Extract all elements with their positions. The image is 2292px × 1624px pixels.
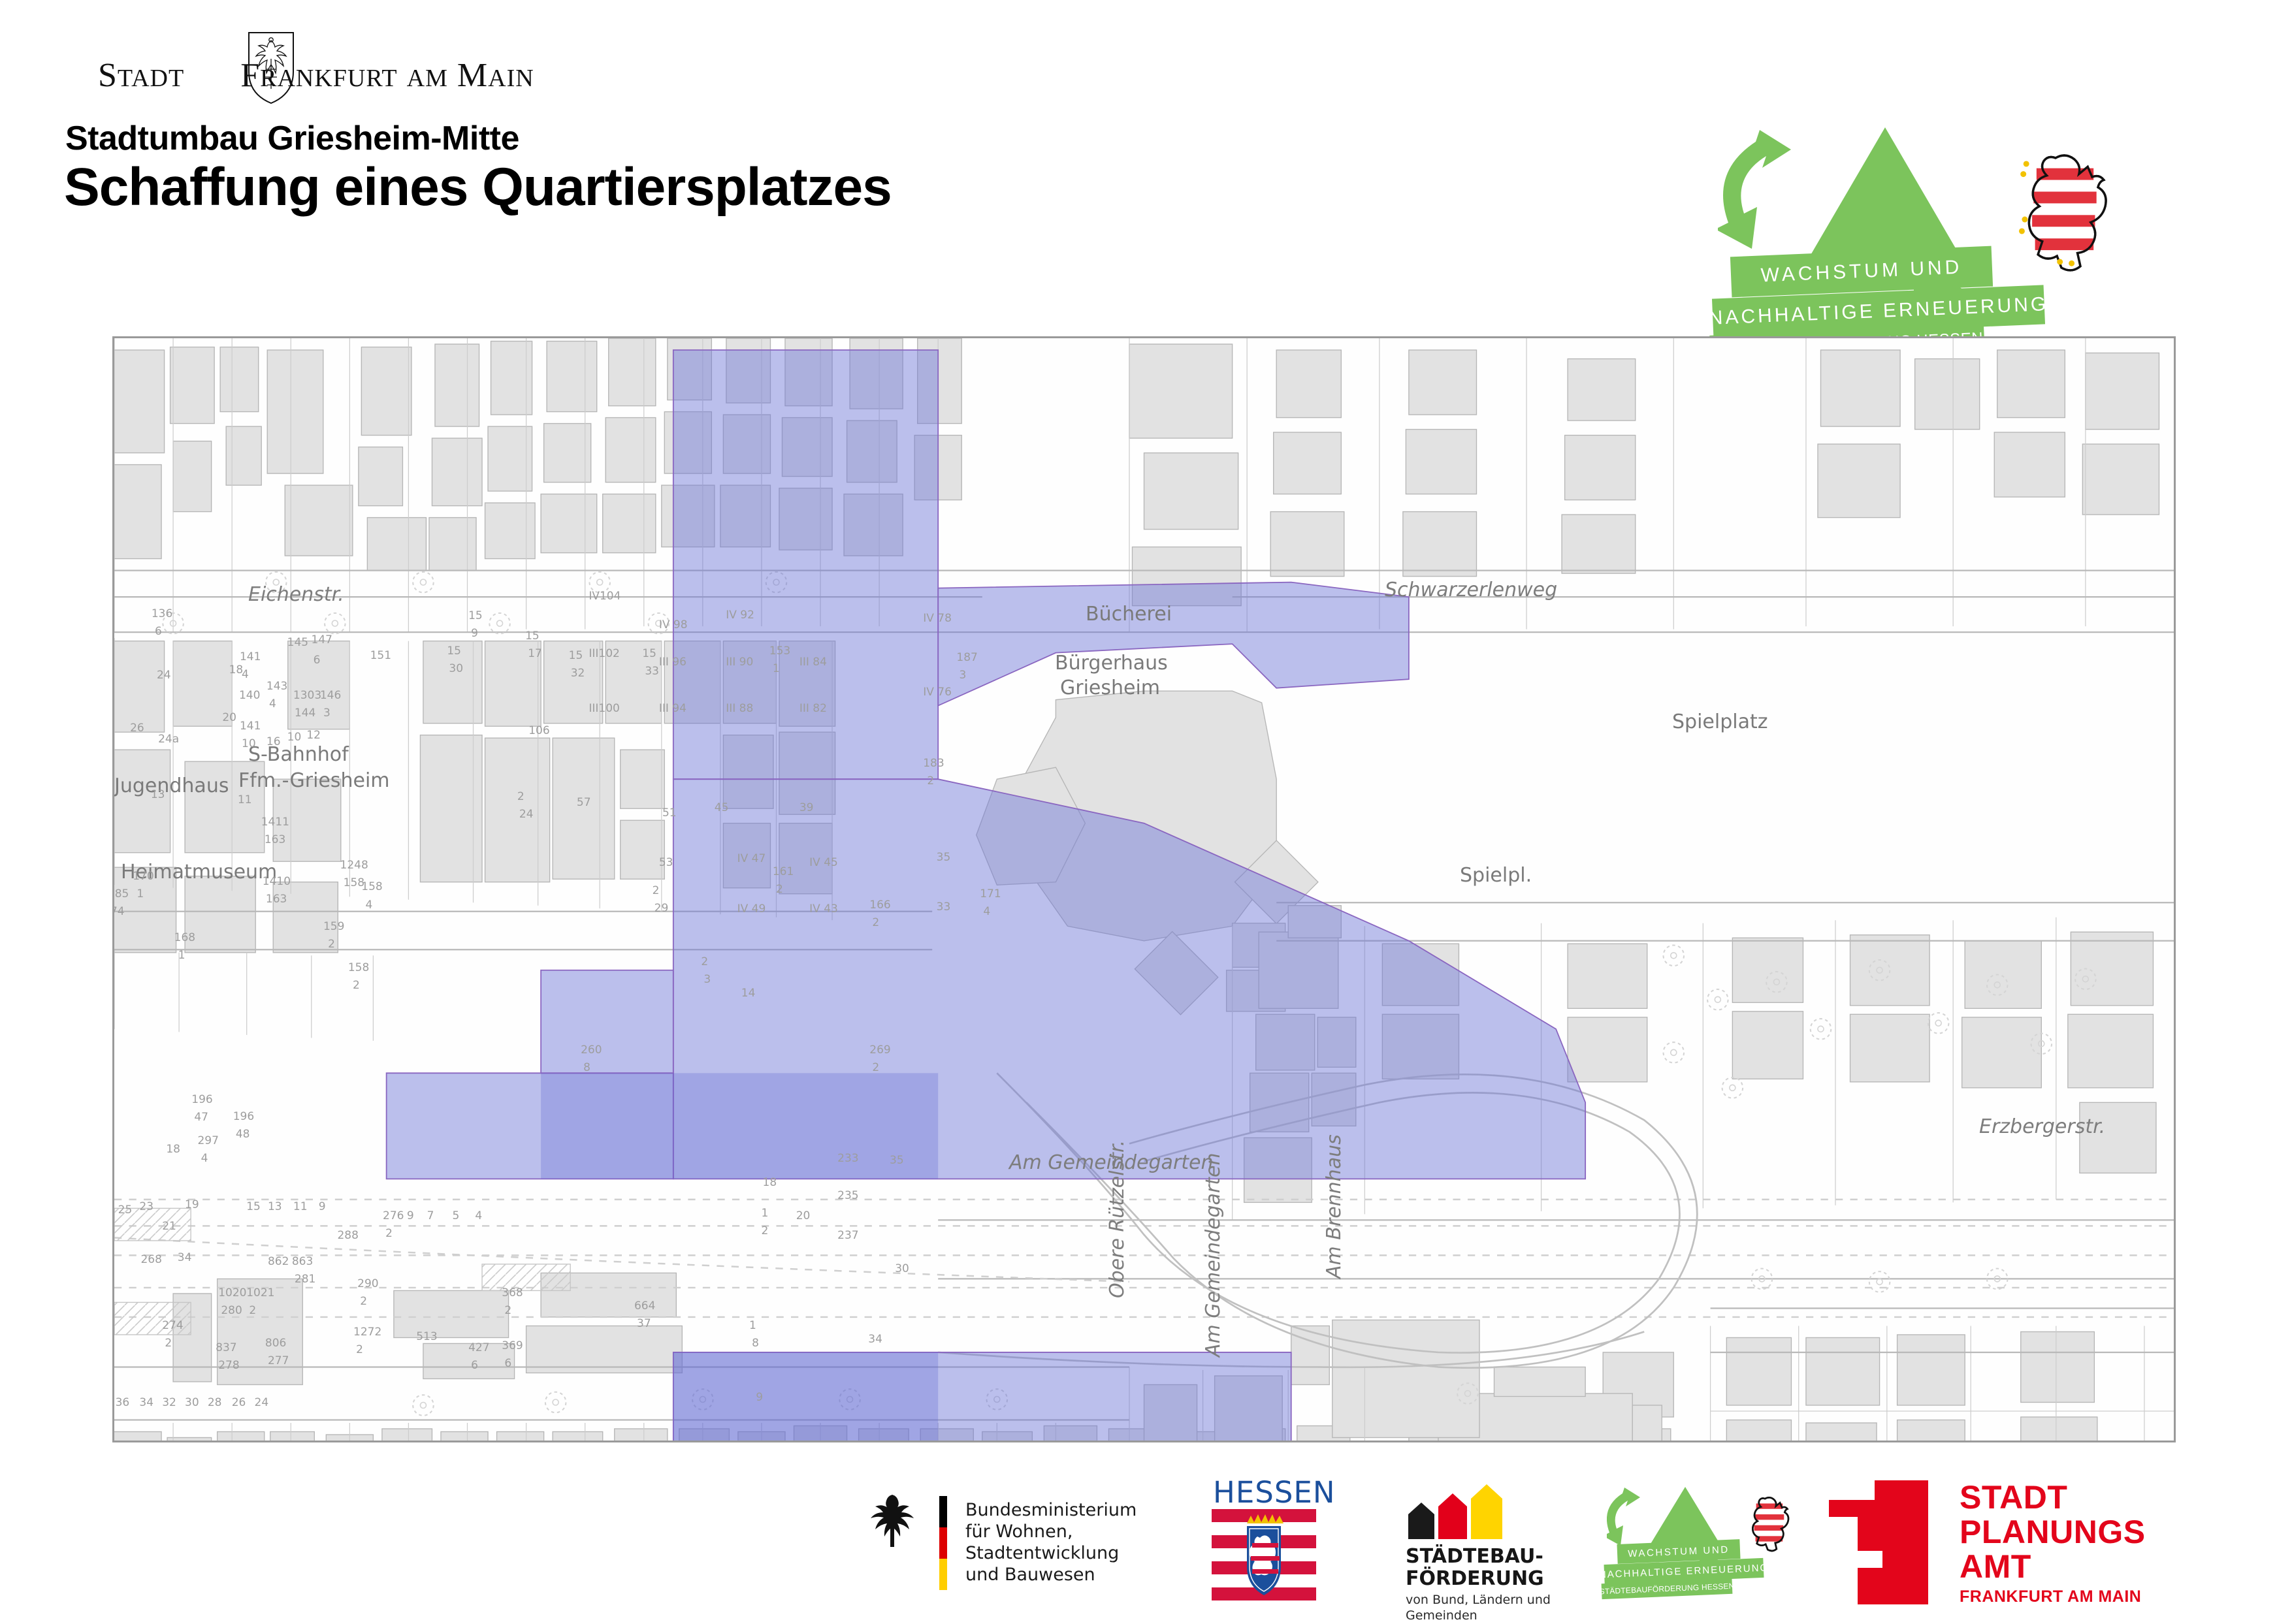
german-flag-black-bar xyxy=(939,1496,947,1527)
city-logo-s: S xyxy=(98,57,118,94)
map-canvas xyxy=(114,338,2174,1441)
staedtebau-sub1: von Bund, Ländern und xyxy=(1406,1593,1551,1608)
spa-line1: STADT xyxy=(1960,1480,2146,1515)
wne-logo-footer: WACHSTUM UND NACHHALTIGE ERNEUERUNG STÄD… xyxy=(1607,1482,1822,1612)
hessen-wordmark: HESSEN xyxy=(1213,1475,1336,1510)
bmwsb-text-block: Bundesministerium für Wohnen, Stadtentwi… xyxy=(965,1500,1176,1586)
staedtebau-line2: FÖRDERUNG xyxy=(1406,1568,1544,1590)
wne-line2-text: NACHHALTIGE ERNEUERUNG xyxy=(1708,293,2049,330)
staedtebau-sub2: Gemeinden xyxy=(1406,1608,1551,1624)
german-flag-gold-bar xyxy=(939,1559,947,1590)
city-logo-wordmark: STADTFRANKFURT AM MAIN xyxy=(98,56,516,102)
staedtebau-title: STÄDTEBAU- FÖRDERUNG xyxy=(1406,1546,1544,1589)
city-logo-ain: AIN xyxy=(488,65,534,92)
wne-footer-line2: NACHHALTIGE ERNEUERUNG xyxy=(1599,1562,1769,1580)
three-houses-icon xyxy=(1404,1483,1509,1539)
city-logo-m: M xyxy=(457,57,488,94)
city-logo-am: AM xyxy=(407,65,448,92)
city-logo-f: F xyxy=(240,57,260,94)
cadastral-map[interactable]: Eichenstr. Schwarzerlenweg Am Gemeindega… xyxy=(112,336,2176,1442)
german-flag-red-bar xyxy=(939,1527,947,1559)
stadtplanungsamt-logo: STADT PLANUNGS AMT FRANKFURT AM MAIN xyxy=(1829,1478,2155,1608)
stadtplanungsamt-mark-icon xyxy=(1829,1480,1933,1604)
stadtplanungsamt-wordmark: STADT PLANUNGS AMT xyxy=(1960,1480,2146,1584)
bmwsb-line1: Bundesministerium xyxy=(965,1500,1176,1521)
spa-line3: AMT xyxy=(1960,1550,2146,1584)
staedtebaufoerderung-logo: STÄDTEBAU- FÖRDERUNG von Bund, Ländern u… xyxy=(1404,1480,1581,1598)
city-logo: STADTFRANKFURT AM MAIN xyxy=(98,31,516,110)
hessen-state-logo: HESSEN xyxy=(1212,1475,1329,1599)
wne-footer-line1: WACHSTUM UND xyxy=(1628,1544,1730,1559)
page-title: Schaffung eines Quartiersplatzes xyxy=(64,157,892,218)
bundesadler-icon xyxy=(869,1492,916,1550)
stadtplanungsamt-subtitle: FRANKFURT AM MAIN xyxy=(1960,1587,2141,1606)
footer-logo-bar: Bundesministerium für Wohnen, Stadtentwi… xyxy=(0,1473,2292,1619)
spa-line2: PLANUNGS xyxy=(1960,1515,2146,1550)
bmwsb-logo: Bundesministerium für Wohnen, Stadtentwi… xyxy=(869,1483,1176,1587)
bmwsb-line2: für Wohnen, Stadtentwicklung xyxy=(965,1521,1176,1565)
hessen-coat-of-arms-icon xyxy=(1212,1509,1316,1600)
city-logo-rankfurt: RANKFURT xyxy=(260,65,398,92)
staedtebau-sub: von Bund, Ländern und Gemeinden xyxy=(1406,1593,1551,1624)
project-subtitle: Stadtumbau Griesheim-Mitte xyxy=(65,119,519,158)
staedtebau-line1: STÄDTEBAU- xyxy=(1406,1546,1544,1568)
bmwsb-line3: und Bauwesen xyxy=(965,1565,1176,1586)
city-logo-tadt: TADT xyxy=(118,65,184,92)
wne-line1-text: WACHSTUM UND xyxy=(1760,257,1963,287)
wne-footer-line3: STÄDTEBAUFÖRDERUNG HESSEN xyxy=(1599,1582,1734,1597)
